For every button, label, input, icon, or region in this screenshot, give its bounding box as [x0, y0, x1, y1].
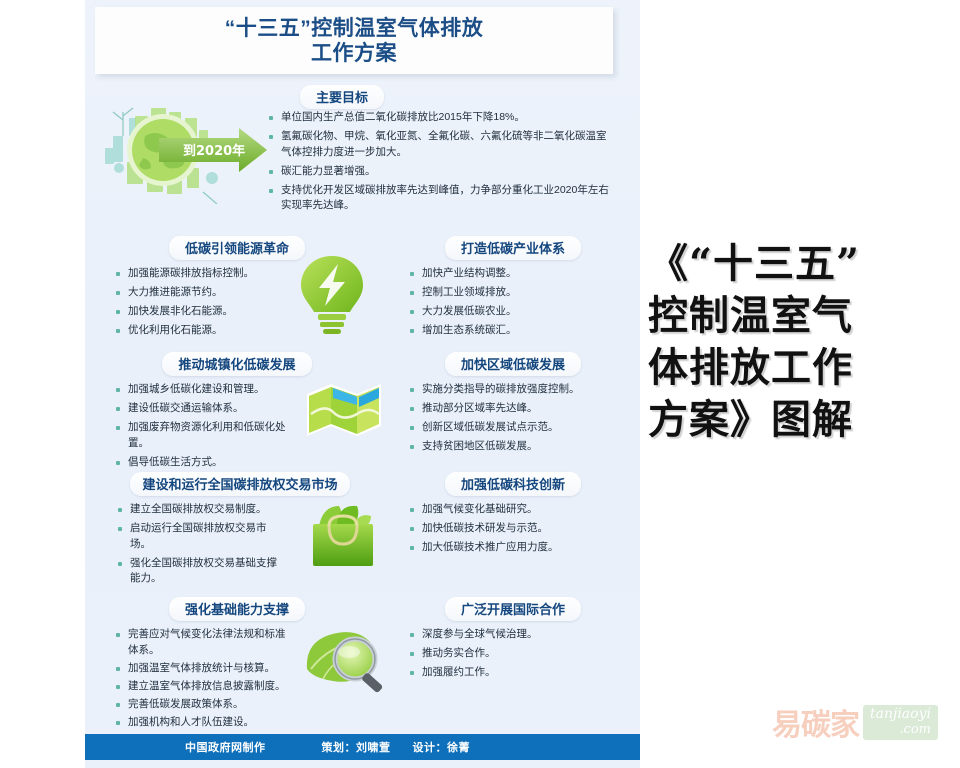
list-item: 加强气候变化基础研究。 — [409, 502, 631, 518]
section-list: 建立全国碳排放权交易制度。 启动运行全国碳排放权交易市场。 强化全国碳排放权交易… — [95, 502, 281, 587]
map-icon — [303, 378, 385, 442]
list-item: 加强机构和人才队伍建设。 — [115, 715, 289, 731]
footer-producer: 中国政府网制作 — [185, 739, 266, 755]
list-item: 建立全国碳排放权交易制度。 — [117, 502, 281, 518]
section-list: 完善应对气候变化法律法规和标准体系。 加强温室气体排放统计与核算。 建立温室气体… — [101, 627, 289, 730]
section-list: 加强气候变化基础研究。 加快低碳技术研发与示范。 加大低碳技术推广应用力度。 — [395, 502, 631, 556]
section-heading: 强化基础能力支撑 — [169, 597, 305, 621]
section-regional-development: 加快区域低碳发展 实施分类指导的碳排放强度控制。 推动部分区域率先达峰。 创新区… — [395, 352, 631, 458]
section-heading: 建设和运行全国碳排放权交易市场 — [130, 472, 349, 496]
list-item: 控制工业领域排放。 — [409, 285, 631, 301]
screenshot-root: “十三五”控制温室气体排放 工作方案 — [0, 0, 960, 768]
section-sci-tech-innovation: 加强低碳科技创新 加强气候变化基础研究。 加快低碳技术研发与示范。 加大低碳技术… — [395, 472, 631, 559]
caption-line-1: 《“十三五” — [648, 238, 948, 290]
section-heading: 推动城镇化低碳发展 — [162, 352, 311, 376]
watermark-domain: tanjiaoyi .com — [863, 705, 938, 740]
section-row-2: 推动城镇化低碳发展 加强城乡低碳化建设和管理。 建设低碳交通运输体系。 加强废弃… — [85, 352, 640, 468]
list-item: 深度参与全球气候治理。 — [409, 627, 631, 643]
watermark: 易碳家 tanjiaoyi .com — [772, 700, 938, 744]
list-item: 启动运行全国碳排放权交易市场。 — [117, 521, 281, 552]
lightbulb-icon — [293, 252, 371, 336]
magnifier-leaf-icon — [301, 625, 393, 699]
list-item: 推动务实合作。 — [409, 646, 631, 662]
section-list: 实施分类指导的碳排放强度控制。 推动部分区域率先达峰。 创新区域低碳发展试点示范… — [395, 382, 631, 455]
list-item: 加强履约工作。 — [409, 665, 631, 681]
section-low-carbon-industry: 打造低碳产业体系 加快产业结构调整。 控制工业领域排放。 大力发展低碳农业。 增… — [395, 236, 631, 342]
section-heading: 加强低碳科技创新 — [445, 472, 581, 496]
section-heading: 低碳引领能源革命 — [169, 236, 305, 260]
poster-title: “十三五”控制温室气体排放 工作方案 — [225, 16, 484, 66]
section-list: 加快产业结构调整。 控制工业领域排放。 大力发展低碳农业。 增加生态系统碳汇。 — [395, 266, 631, 339]
list-item: 碳汇能力显著增强。 — [268, 164, 616, 180]
caption-line-4: 方案》图解 — [648, 394, 948, 446]
poster-title-card: “十三五”控制温室气体排放 工作方案 — [95, 7, 613, 74]
section-row-1: 低碳引领能源革命 加强能源碳排放指标控制。 大力推进能源节约。 加快发展非化石能… — [85, 236, 640, 348]
section-list: 加强城乡低碳化建设和管理。 建设低碳交通运输体系。 加强废弃物资源化利用和低碳化… — [101, 382, 295, 470]
watermark-brand: 易碳家 — [772, 700, 859, 744]
globe-arrow-icon: 到2020年 — [99, 96, 271, 204]
main-goals-heading: 主要目标 — [300, 85, 384, 109]
list-item: 实施分类指导的碳排放强度控制。 — [409, 382, 631, 398]
list-item: 倡导低碳生活方式。 — [115, 455, 295, 471]
list-item: 创新区域低碳发展试点示范。 — [409, 420, 631, 436]
page-title: 《“十三五” 控制温室气 体排放工作 方案》图解 — [648, 238, 948, 446]
list-item: 加大低碳技术推广应用力度。 — [409, 540, 631, 556]
section-heading: 广泛开展国际合作 — [445, 597, 581, 621]
list-item: 加强温室气体排放统计与核算。 — [115, 661, 289, 677]
section-international-cooperation: 广泛开展国际合作 深度参与全球气候治理。 推动务实合作。 加强履约工作。 — [395, 597, 631, 684]
main-goals-heading-pill: 主要目标 — [300, 85, 384, 109]
caption-line-2: 控制温室气 — [648, 290, 948, 342]
list-item: 完善应对气候变化法律法规和标准体系。 — [115, 627, 289, 658]
section-heading: 加快区域低碳发展 — [445, 352, 581, 376]
section-list: 深度参与全球气候治理。 推动务实合作。 加强履约工作。 — [395, 627, 631, 681]
list-item: 支持贫困地区低碳发展。 — [409, 439, 631, 455]
list-item: 推动部分区域率先达峰。 — [409, 401, 631, 417]
list-item: 加强城乡低碳化建设和管理。 — [115, 382, 295, 398]
list-item: 加快产业结构调整。 — [409, 266, 631, 282]
footer-planner: 策划：刘啸萱 — [322, 739, 391, 755]
shopping-bag-icon — [305, 500, 381, 570]
watermark-domain-name: tanjiaoyi — [870, 706, 931, 722]
list-item: 支持优化开发区域碳排放率先达到峰值，力争部分重化工业2020年左右实现率先达峰。 — [268, 183, 616, 214]
poster-footer: 中国政府网制作 策划：刘啸萱 设计：徐菁 — [85, 734, 640, 760]
infographic-poster: “十三五”控制温室气体排放 工作方案 — [85, 0, 640, 768]
watermark-domain-tld: .com — [870, 722, 931, 737]
list-item: 完善低碳发展政策体系。 — [115, 697, 289, 713]
footer-designer: 设计：徐菁 — [413, 739, 471, 755]
list-item: 大力发展低碳农业。 — [409, 304, 631, 320]
list-item: 建设低碳交通运输体系。 — [115, 401, 295, 417]
poster-title-line1: “十三五”控制温室气体排放 — [225, 17, 484, 40]
list-item: 单位国内生产总值二氧化碳排放比2015年下降18%。 — [268, 110, 616, 126]
list-item: 增加生态系统碳汇。 — [409, 323, 631, 339]
list-item: 建立温室气体排放信息披露制度。 — [115, 679, 289, 695]
section-row-4: 强化基础能力支撑 完善应对气候变化法律法规和标准体系。 加强温室气体排放统计与核… — [85, 597, 640, 722]
section-heading: 打造低碳产业体系 — [445, 236, 581, 260]
list-item: 强化全国碳排放权交易基础支撑能力。 — [117, 556, 281, 587]
list-item: 氢氟碳化物、甲烷、氧化亚氮、全氟化碳、六氟化硫等非二氧化碳温室气体控排力度进一步… — [268, 129, 616, 160]
main-goals-list: 单位国内生产总值二氧化碳排放比2015年下降18%。 氢氟碳化物、甲烷、氧化亚氮… — [268, 110, 616, 217]
main-goals-block: 到2020年 主要目标 单位国内生产总值二氧化碳排放比2015年下降18%。 氢… — [85, 82, 640, 214]
list-item: 加强废弃物资源化利用和低碳化处置。 — [115, 420, 295, 451]
goal-year-badge: 到2020年 — [183, 143, 245, 159]
poster-title-line2: 工作方案 — [311, 42, 397, 65]
section-row-3: 建设和运行全国碳排放权交易市场 建立全国碳排放权交易制度。 启动运行全国碳排放权… — [85, 472, 640, 584]
list-item: 加快低碳技术研发与示范。 — [409, 521, 631, 537]
caption-line-3: 体排放工作 — [648, 342, 948, 394]
